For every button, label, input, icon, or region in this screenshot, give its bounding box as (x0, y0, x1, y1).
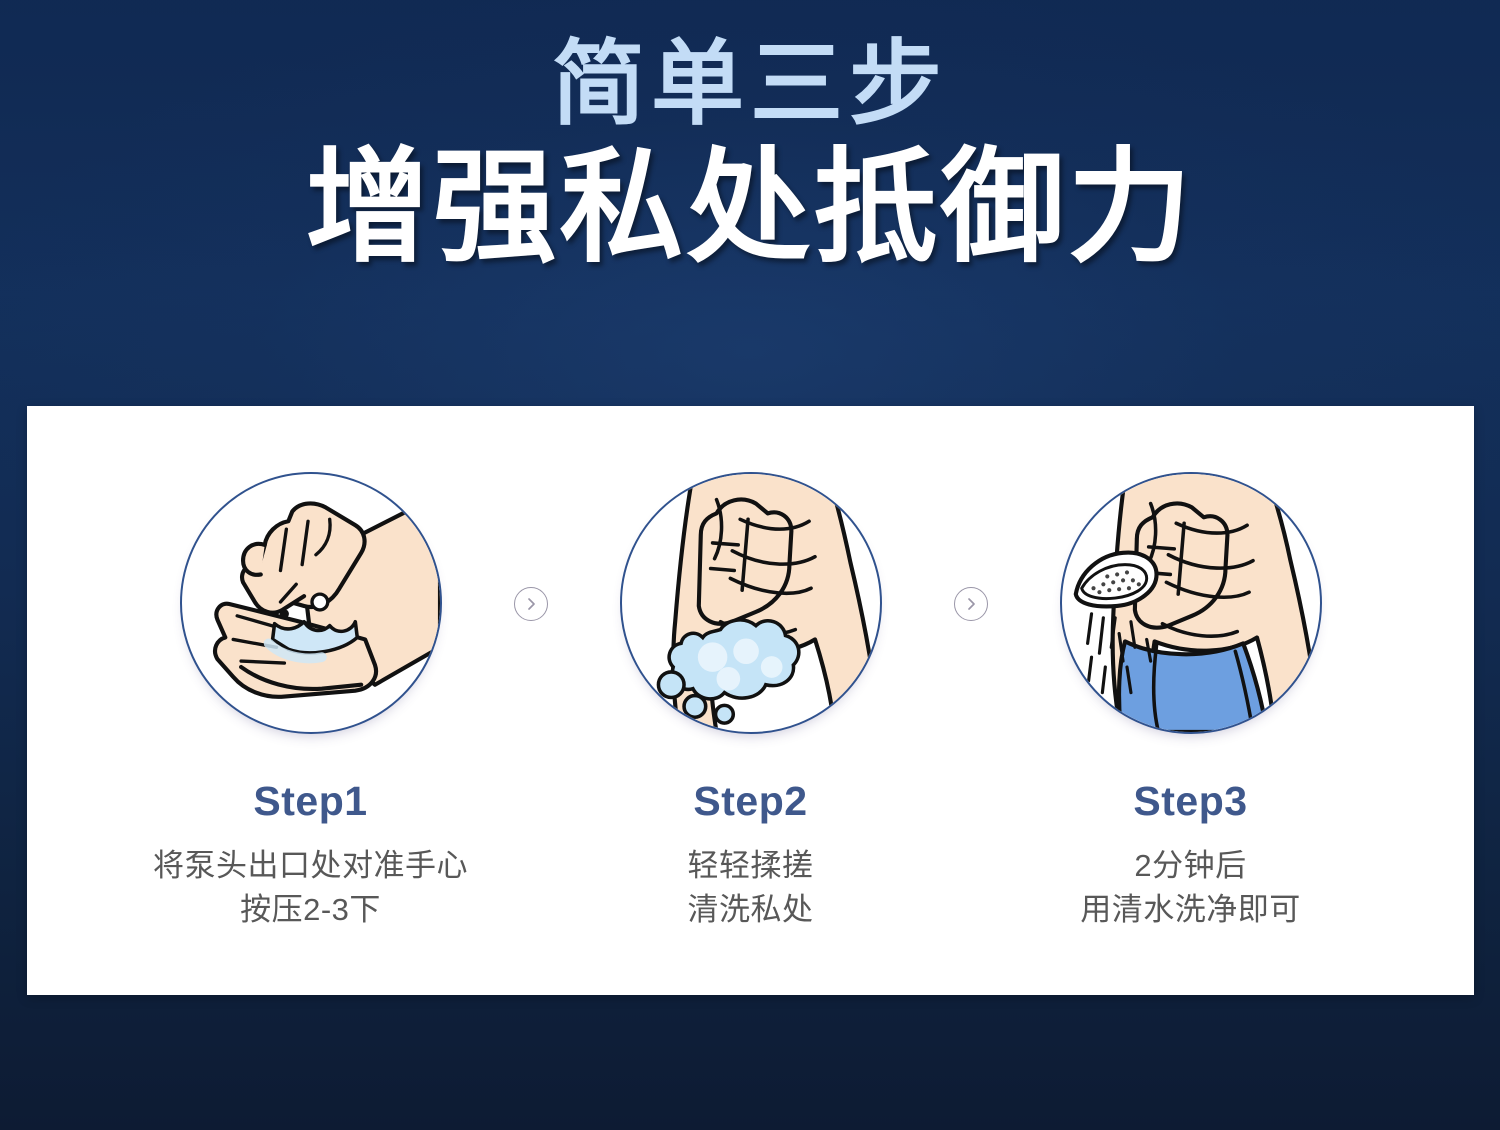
step-item-1: Step1 将泵头出口处对准手心 按压2-3下 (115, 406, 507, 932)
header: 简单三步 增强私处抵御力 (0, 0, 1500, 276)
step-item-3: Step3 2分钟后 用清水洗净即可 (995, 406, 1387, 932)
step-2-illustration-disc (620, 472, 882, 734)
chevron-right-icon (954, 587, 988, 621)
step-separator-1 (507, 406, 555, 621)
step-1-illustration (180, 472, 442, 734)
step-separator-2 (947, 406, 995, 621)
step-2-illustration (620, 472, 882, 734)
step-3-desc-line1: 2分钟后 (1134, 848, 1246, 883)
step-1-desc-line2: 按压2-3下 (153, 888, 468, 932)
step-3-desc-line2: 用清水洗净即可 (1080, 888, 1301, 932)
step-2-desc-line2: 清洗私处 (688, 888, 814, 932)
step-3-description: 2分钟后 用清水洗净即可 (1080, 844, 1301, 932)
chevron-right-icon (514, 587, 548, 621)
step-2-label: Step2 (693, 781, 807, 822)
step-2-description: 轻轻揉搓 清洗私处 (688, 844, 814, 932)
showerhead-rinsing-icon (1062, 474, 1320, 732)
step-2-desc-line1: 轻轻揉搓 (688, 848, 814, 883)
hand-lathering-foam-icon (622, 474, 880, 732)
eyebrow-title: 简单三步 (0, 34, 1500, 134)
step-1-description: 将泵头出口处对准手心 按压2-3下 (153, 844, 468, 932)
step-1-desc-line1: 将泵头出口处对准手心 (153, 848, 468, 883)
step-1-label: Step1 (253, 781, 367, 822)
promo-page: 简单三步 增强私处抵御力 (0, 0, 1500, 1130)
hands-dispensing-wash-icon (182, 474, 440, 732)
step-3-illustration-disc (1060, 472, 1322, 734)
chevron-right-glyph (963, 596, 979, 612)
step-item-2: Step2 轻轻揉搓 清洗私处 (555, 406, 947, 932)
step-3-label: Step3 (1133, 781, 1247, 822)
step-3-illustration (1060, 472, 1322, 734)
page-title: 增强私处抵御力 (0, 142, 1500, 276)
steps-list: Step1 将泵头出口处对准手心 按压2-3下 (27, 406, 1474, 995)
steps-card: Step1 将泵头出口处对准手心 按压2-3下 (27, 406, 1474, 995)
chevron-right-glyph (523, 596, 539, 612)
step-1-illustration-disc (180, 472, 442, 734)
